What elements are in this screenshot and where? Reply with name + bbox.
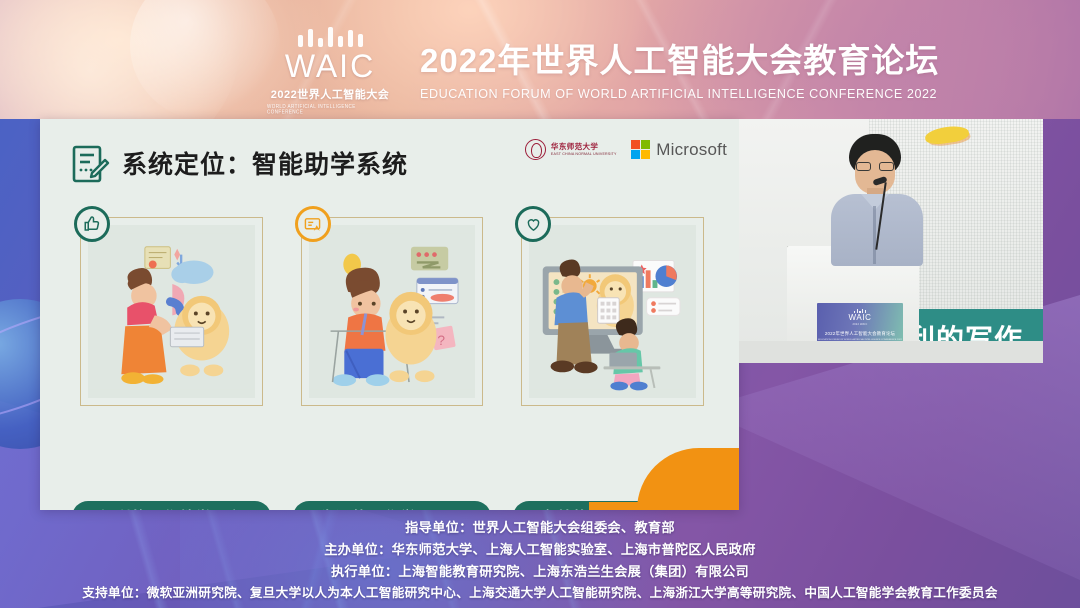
footer-line-executor: 执行单位：上海智能教育研究院、上海东浩兰生会展（集团）有限公司 [331, 562, 749, 581]
conference-header-banner: WAIC 2022世界人工智能大会 WORLD ARTIFICIAL INTEL… [0, 0, 1080, 119]
speaker [817, 134, 937, 264]
card-illustration [529, 225, 696, 398]
waic-wordmark: WAIC [285, 50, 375, 82]
speaker-video-panel[interactable]: 利的写作 WAIC 2022 WAIC 2022年世界人工智能大会教育论坛 ED… [739, 119, 1043, 363]
slide-title: 系统定位：智能助学系统 [122, 146, 408, 184]
ecnu-logo-cn: 华东师范大学 [551, 143, 617, 152]
podium-sign-sub: 2022 WAIC [853, 323, 868, 326]
footer-line-organizer: 主办单位：华东师范大学、上海人工智能实验室、上海市普陀区人民政府 [324, 540, 756, 559]
waic-logo-cn: 2022世界人工智能大会 [271, 86, 389, 102]
svg-text:?: ? [437, 333, 445, 348]
footer-line-supporters: 支持单位：微软亚洲研究院、复旦大学以人为本人工智能研究中心、上海交通大学人工智能… [82, 584, 997, 603]
sponsor-footer: 指导单位：世界人工智能大会组委会、教育部 主办单位：华东师范大学、上海人工智能实… [0, 512, 1080, 608]
podium-sign-cn: 2022年世界人工智能大会教育论坛 [825, 331, 895, 337]
microsoft-logo: Microsoft [631, 140, 727, 160]
footer-line-guidance: 指导单位：世界人工智能大会组委会、教育部 [405, 518, 675, 537]
ecnu-logo: 华东师范大学 EAST CHINA NORMAL UNIVERSITY [525, 139, 617, 160]
waic-logo-en: WORLD ARTIFICIAL INTELLIGENCE CONFERENCE [267, 104, 393, 115]
feature-card[interactable] [72, 207, 271, 422]
thumbs-up-icon [74, 206, 110, 242]
card-illustration: ? [309, 225, 476, 398]
shirt-placket [873, 206, 876, 264]
waic-logo: WAIC 2022世界人工智能大会 WORLD ARTIFICIAL INTEL… [267, 27, 393, 113]
feature-card[interactable]: ? [293, 207, 492, 422]
certificate-icon [295, 206, 331, 242]
feature-label-pill[interactable]: 先进的写作学习工具 [293, 501, 492, 510]
microsoft-wordmark: Microsoft [656, 140, 727, 160]
feature-card[interactable] [513, 207, 712, 422]
stage-floor [739, 341, 1043, 363]
feature-card-list: ? [72, 207, 712, 422]
forum-subtitle: EDUCATION FORUM OF WORLD ARTIFICIAL INTE… [420, 88, 937, 101]
slide-corner-accent [637, 448, 739, 510]
document-edit-icon [72, 145, 110, 185]
microsoft-squares-icon [631, 140, 651, 160]
card-illustration [88, 225, 255, 398]
partner-logos: 华东师范大学 EAST CHINA NORMAL UNIVERSITY Micr… [525, 139, 727, 160]
ecnu-logo-en: EAST CHINA NORMAL UNIVERSITY [551, 152, 617, 156]
eyeglasses-icon [856, 162, 894, 171]
ecnu-seal-icon [525, 139, 546, 160]
presentation-slide[interactable]: 系统定位：智能助学系统 华东师范大学 EAST CHINA NORMAL UNI… [40, 119, 739, 510]
waic-logo-bars [298, 27, 363, 47]
forum-title: 2022年世界人工智能大会教育论坛 [420, 44, 939, 77]
feature-label-pill[interactable]: 便利的写作教学平台 [72, 501, 271, 510]
screen: WAIC 2022世界人工智能大会 WORLD ARTIFICIAL INTEL… [0, 0, 1080, 608]
podium-sign-wordmark: WAIC [849, 314, 872, 322]
